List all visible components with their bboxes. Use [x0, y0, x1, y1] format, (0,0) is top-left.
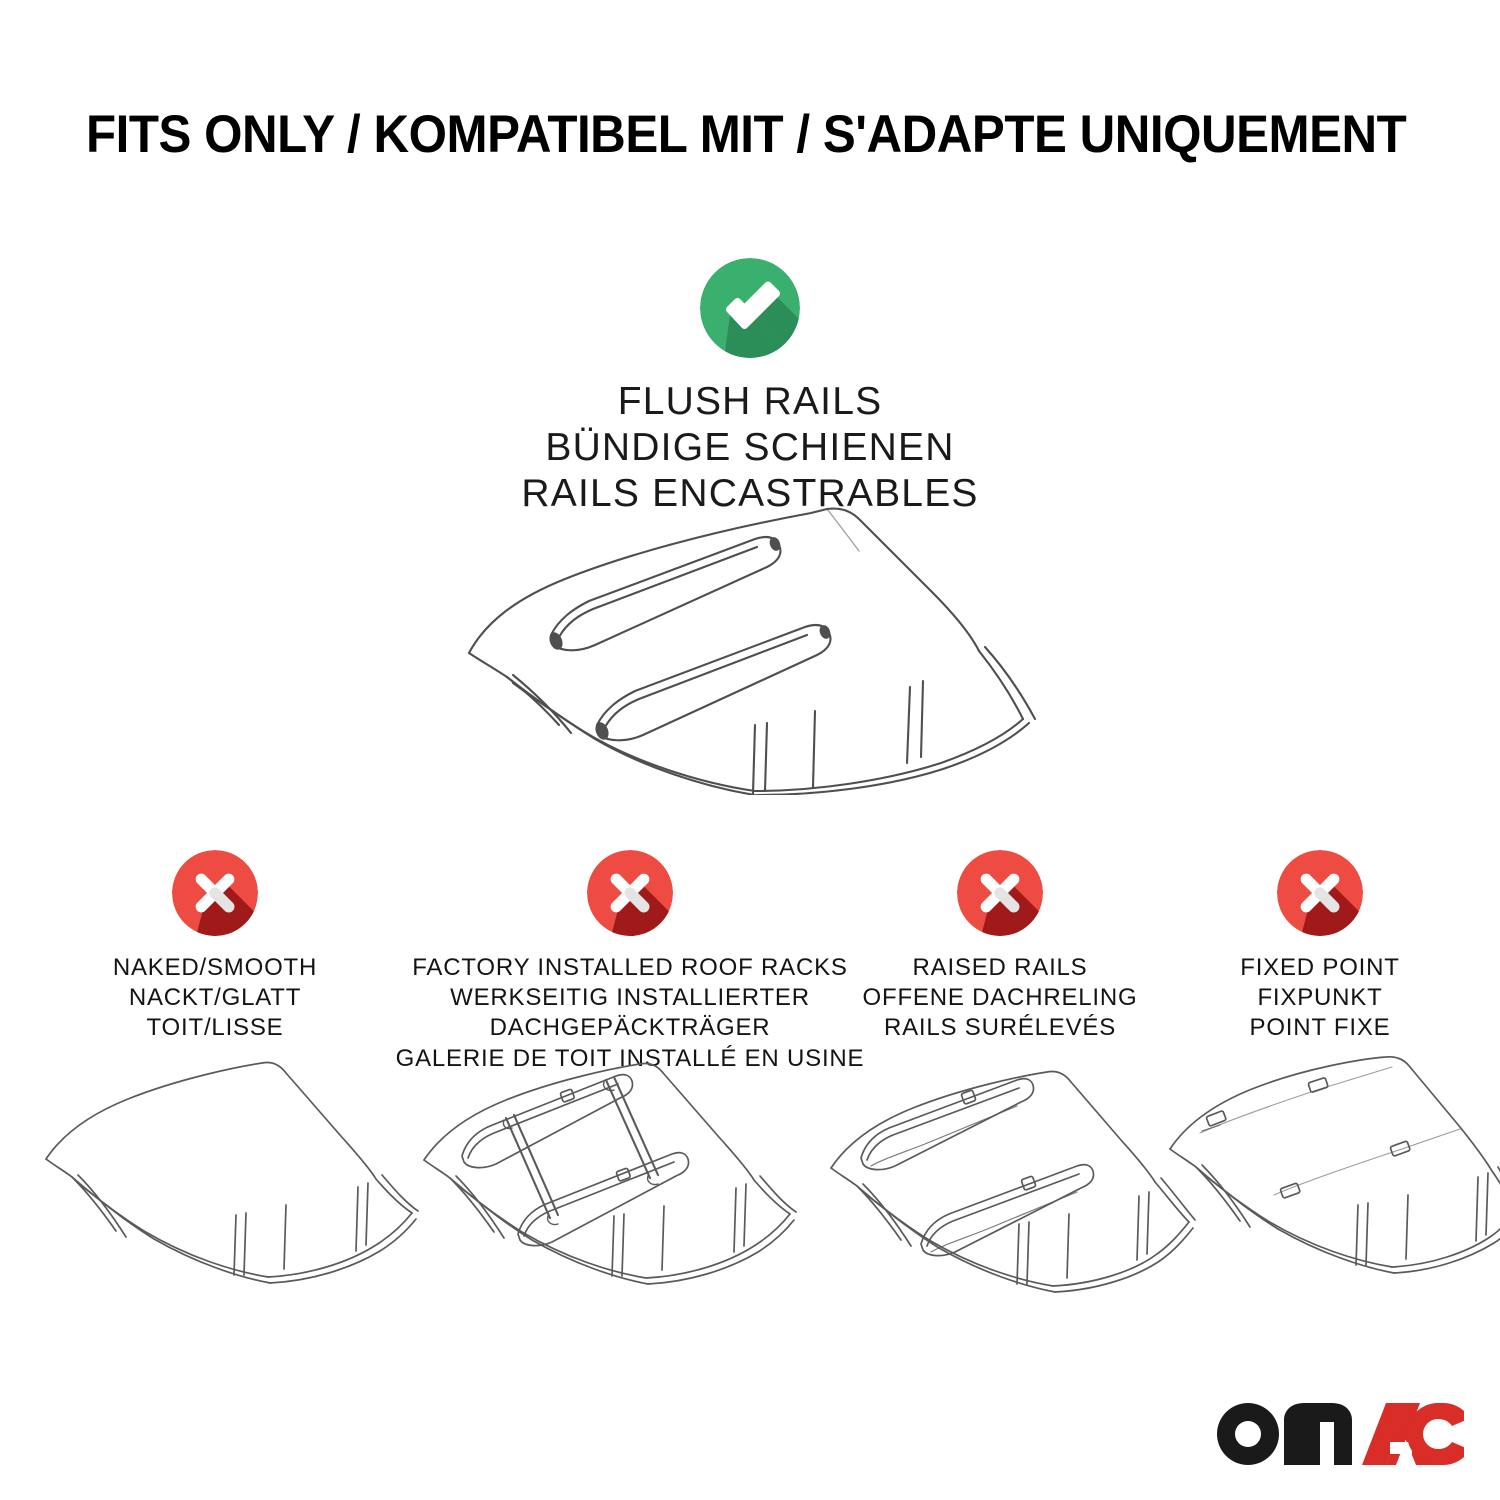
- incompatible-column-naked-smooth: NAKED/SMOOTH NACKT/GLATT TOIT/LISSE: [45, 850, 385, 1044]
- car-roof-naked-smooth-illustration: [40, 1055, 420, 1305]
- infographic-page: FITS ONLY / KOMPATIBEL MIT / S'ADAPTE UN…: [0, 0, 1500, 1500]
- check-circle-icon: [700, 258, 800, 358]
- x-circle-icon: [957, 850, 1043, 936]
- incompatible-labels: RAISED RAILS OFFENE DACHRELING RAILS SUR…: [845, 953, 1155, 1044]
- car-roof-raised-rails-illustration: [805, 1048, 1205, 1306]
- compatible-label-de: BÜNDIGE SCHIENEN: [0, 425, 1500, 471]
- logo-letter-m: [1284, 1403, 1352, 1465]
- x-circle-icon: [172, 850, 258, 936]
- incompatible-labels: NAKED/SMOOTH NACKT/GLATT TOIT/LISSE: [45, 953, 385, 1044]
- label-line-fr: TOIT/LISSE: [45, 1013, 385, 1043]
- car-roof-fixed-point-illustration: [1160, 1055, 1500, 1305]
- label-line-de: OFFENE DACHRELING: [845, 983, 1155, 1013]
- car-roof-flush-rails-illustration: [455, 495, 1075, 795]
- label-line-fr: RAILS SURÉLEVÉS: [845, 1013, 1155, 1043]
- compatible-section: FLUSH RAILS BÜNDIGE SCHIENEN RAILS ENCAS…: [0, 258, 1500, 517]
- label-line-en: FIXED POINT: [1160, 953, 1480, 983]
- page-title: FITS ONLY / KOMPATIBEL MIT / S'ADAPTE UN…: [86, 104, 1406, 165]
- incompatible-column-raised-rails: RAISED RAILS OFFENE DACHRELING RAILS SUR…: [845, 850, 1155, 1044]
- incompatible-section: NAKED/SMOOTH NACKT/GLATT TOIT/LISSE: [0, 850, 1500, 1050]
- label-line-de: NACKT/GLATT: [45, 983, 385, 1013]
- compatible-label-en: FLUSH RAILS: [0, 379, 1500, 425]
- x-circle-icon: [1277, 850, 1363, 936]
- incompatible-labels: FIXED POINT FIXPUNKT POINT FIXE: [1160, 953, 1480, 1044]
- label-line-de: FIXPUNKT: [1160, 983, 1480, 1013]
- label-line-fr: POINT FIXE: [1160, 1013, 1480, 1043]
- incompatible-column-factory-roof-racks: FACTORY INSTALLED ROOF RACKS WERKSEITIG …: [385, 850, 875, 1074]
- label-line-de-1: WERKSEITIG INSTALLIERTER: [385, 983, 875, 1013]
- x-circle-icon: [587, 850, 673, 936]
- label-line-en: FACTORY INSTALLED ROOF RACKS: [385, 953, 875, 983]
- label-line-en: RAISED RAILS: [845, 953, 1155, 983]
- car-roof-factory-roof-racks-illustration: [410, 1048, 810, 1306]
- label-line-en: NAKED/SMOOTH: [45, 953, 385, 983]
- label-line-de-2: DACHGEPÄCKTRÄGER: [385, 1013, 875, 1043]
- omac-logo: OMAC: [1214, 1398, 1464, 1470]
- incompatible-column-fixed-point: FIXED POINT FIXPUNKT POINT FIXE: [1160, 850, 1480, 1044]
